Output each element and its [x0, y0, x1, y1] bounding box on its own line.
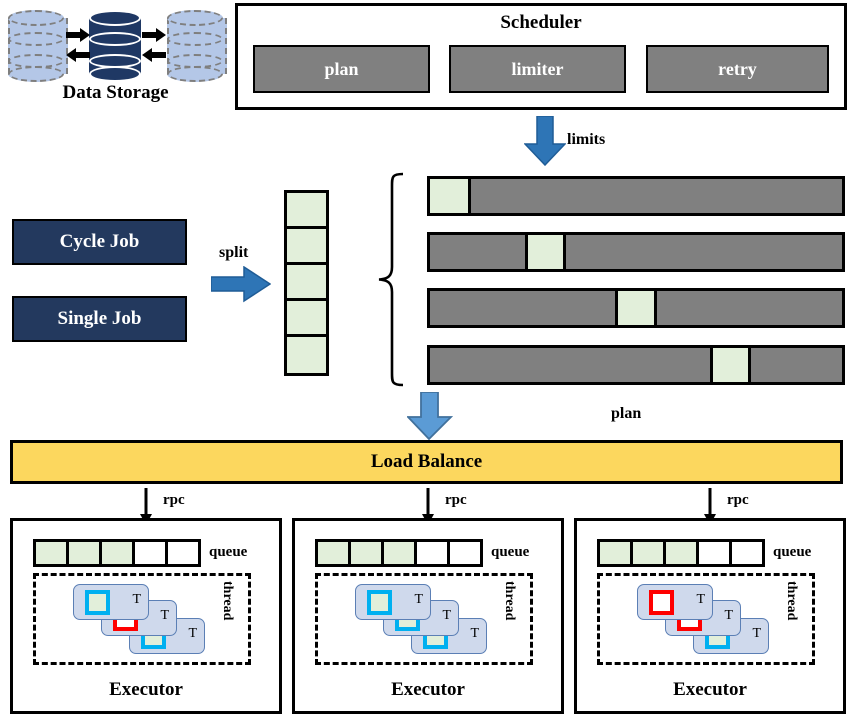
executor-queue [597, 539, 765, 567]
executor-queue-cell[interactable] [417, 542, 450, 564]
executor-queue-label: queue [773, 544, 811, 561]
executor-panel: queue T T T thread Executor [574, 518, 846, 714]
cycle-job-box[interactable]: Cycle Job [12, 219, 187, 265]
split-queue-cell[interactable] [287, 193, 326, 229]
thread-card[interactable]: T [637, 584, 713, 620]
split-label: split [219, 244, 248, 262]
thread-state-marker-icon [649, 590, 674, 615]
executor-queue-cell[interactable] [351, 542, 384, 564]
executor-thread-label: thread [219, 581, 235, 620]
split-queue-cell[interactable] [287, 229, 326, 265]
executor-thread-label: thread [501, 581, 517, 620]
split-task-queue [284, 190, 329, 376]
executor-queue-cell[interactable] [450, 542, 480, 564]
thread-card[interactable]: T [355, 584, 431, 620]
thread-state-marker-icon [85, 590, 110, 615]
executor-panel: queue T T T thread Executor [10, 518, 282, 714]
thread-card-label: T [132, 593, 141, 607]
executor-panel: queue T T T thread Executor [292, 518, 564, 714]
single-job-box[interactable]: Single Job [12, 296, 187, 342]
plan-timeline-bar [427, 345, 845, 385]
thread-card-label: T [696, 593, 705, 607]
executor-queue [315, 539, 483, 567]
scheduler-module-retry[interactable]: retry [646, 45, 829, 93]
executor-queue-cell[interactable] [102, 542, 135, 564]
data-storage-label: Data Storage [8, 82, 223, 104]
thread-card[interactable]: T [73, 584, 149, 620]
executor-queue-cell[interactable] [168, 542, 198, 564]
plan-timeline-bar [427, 176, 845, 216]
thread-card-label: T [160, 609, 169, 623]
executor-queue-cell[interactable] [36, 542, 69, 564]
executor-title: Executor [577, 679, 843, 701]
thread-card-label: T [414, 593, 423, 607]
thread-card-label: T [188, 627, 197, 641]
plan-caption-label: plan [611, 405, 641, 423]
executor-queue-cell[interactable] [666, 542, 699, 564]
executor-queue [33, 539, 201, 567]
executor-queue-cell[interactable] [633, 542, 666, 564]
thread-card-label: T [470, 627, 479, 641]
executor-queue-cell[interactable] [699, 542, 732, 564]
scheduler-module-plan[interactable]: plan [253, 45, 430, 93]
thread-card-label: T [724, 609, 733, 623]
scheduler-title: Scheduler [235, 12, 847, 34]
split-arrow-right-icon [211, 266, 271, 304]
load-balance-bar[interactable]: Load Balance [10, 440, 843, 484]
rpc-label: rpc [163, 492, 185, 509]
executor-thread-label: thread [783, 581, 799, 620]
executor-queue-cell[interactable] [384, 542, 417, 564]
limits-label: limits [567, 131, 605, 149]
executor-queue-cell[interactable] [600, 542, 633, 564]
thread-card-label: T [752, 627, 761, 641]
plan-group-brace-icon [378, 172, 404, 387]
rpc-label: rpc [727, 492, 749, 509]
limits-arrow-down-icon [524, 116, 566, 166]
executor-title: Executor [13, 679, 279, 701]
executor-queue-cell[interactable] [135, 542, 168, 564]
executor-queue-cell[interactable] [318, 542, 351, 564]
thread-state-marker-icon [367, 590, 392, 615]
split-queue-cell[interactable] [287, 301, 326, 337]
executor-queue-label: queue [209, 544, 247, 561]
executor-title: Executor [295, 679, 561, 701]
executor-queue-cell[interactable] [732, 542, 762, 564]
plan-timeline-bar [427, 288, 845, 328]
scheduler-module-limiter[interactable]: limiter [449, 45, 626, 93]
split-queue-cell[interactable] [287, 337, 326, 373]
thread-card-label: T [442, 609, 451, 623]
executor-queue-label: queue [491, 544, 529, 561]
split-queue-cell[interactable] [287, 265, 326, 301]
rpc-label: rpc [445, 492, 467, 509]
plan-arrow-down-icon [407, 392, 453, 440]
executor-queue-cell[interactable] [69, 542, 102, 564]
plan-timeline-bar [427, 232, 845, 272]
